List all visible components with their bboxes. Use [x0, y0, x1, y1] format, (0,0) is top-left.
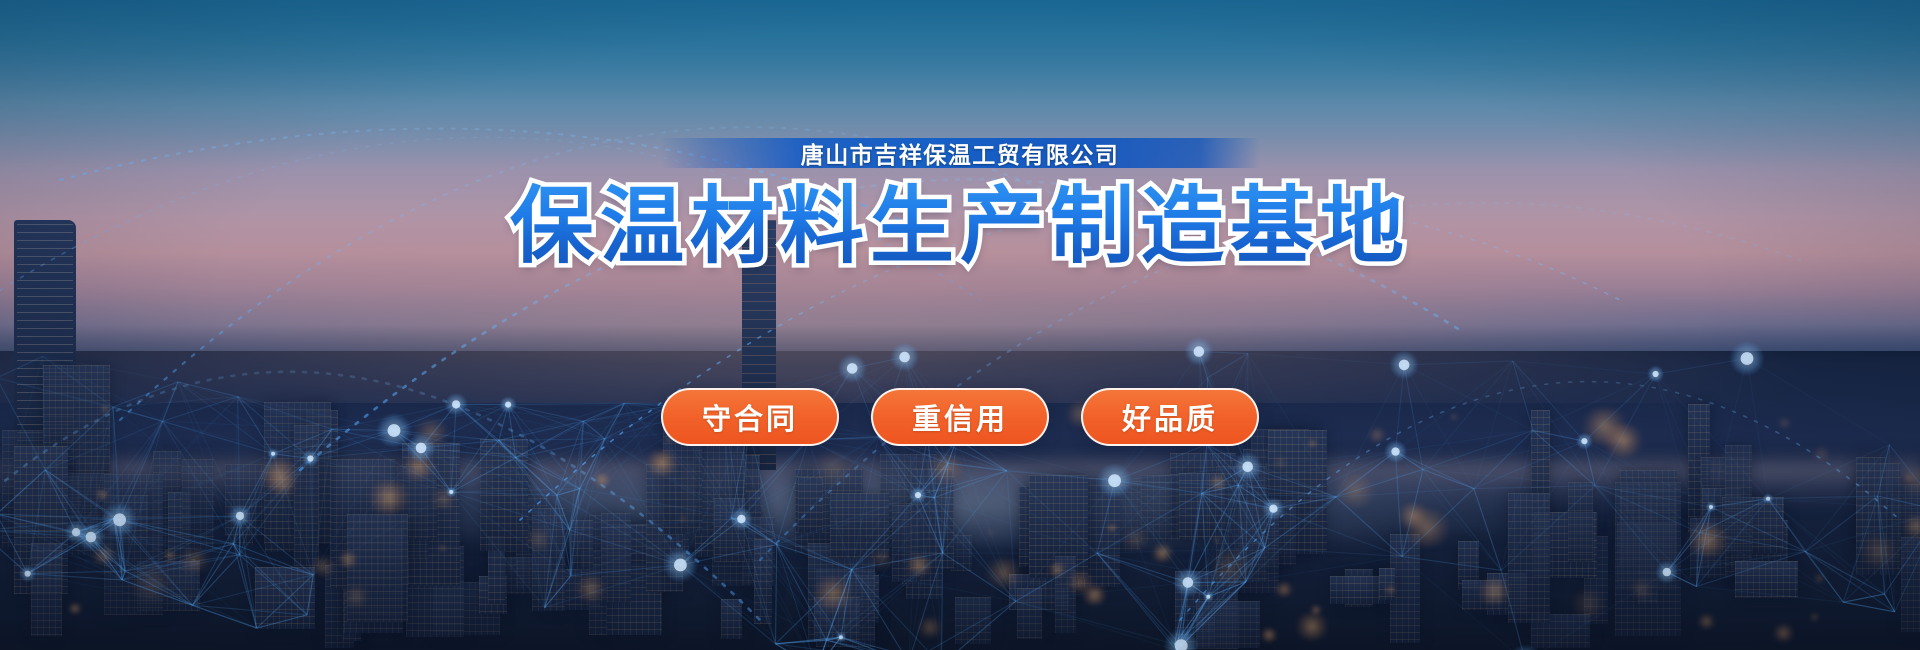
company-name-text: 唐山市吉祥保温工贸有限公司 [801, 136, 1120, 170]
slogan-pill-group: 守合同 重信用 好品质 [661, 388, 1259, 446]
slogan-pill-3[interactable]: 好品质 [1081, 388, 1259, 446]
slogan-pill-3-label: 好品质 [1122, 396, 1218, 438]
slogan-pill-2-label: 重信用 [912, 396, 1008, 438]
slogan-pill-2[interactable]: 重信用 [871, 388, 1049, 446]
slogan-pill-1[interactable]: 守合同 [661, 388, 839, 446]
headline-text: 保温材料生产制造基地 [510, 179, 1410, 273]
hero-banner: 唐山市吉祥保温工贸有限公司 保温材料生产制造基地 保温材料生产制造基地 守合同 … [0, 0, 1920, 650]
hero-content: 唐山市吉祥保温工贸有限公司 保温材料生产制造基地 保温材料生产制造基地 守合同 … [0, 0, 1920, 650]
hero-headline: 保温材料生产制造基地 保温材料生产制造基地 [510, 182, 1410, 270]
slogan-pill-1-label: 守合同 [702, 396, 798, 438]
company-name-ribbon: 唐山市吉祥保温工贸有限公司 [660, 138, 1260, 168]
